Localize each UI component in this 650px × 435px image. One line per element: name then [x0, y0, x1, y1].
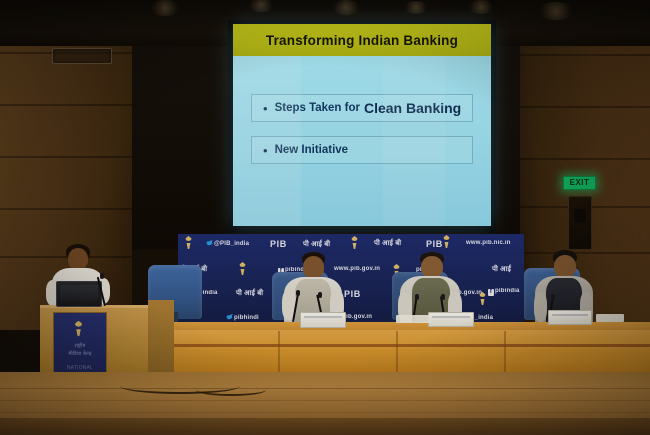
- lectern-sign-hindi-1: राष्ट्रीय: [54, 343, 106, 349]
- backdrop-text-label: pibindia: [495, 288, 520, 294]
- backdrop-text: PIB: [344, 289, 361, 299]
- backdrop-text-label: पी आई बी: [303, 241, 330, 248]
- slide-bullet-1: • Steps Taken for Clean Banking: [251, 94, 473, 122]
- india-emblem-icon: [238, 262, 247, 275]
- backdrop-text: pibhindi: [226, 314, 259, 321]
- backdrop-text-label: पी आई बी: [236, 290, 263, 297]
- exit-sign-label: EXIT: [570, 179, 590, 187]
- press-conference-photo: EXIT Transforming Indian Banking • Steps…: [0, 0, 650, 435]
- backdrop-text: पी आई: [492, 265, 511, 274]
- backdrop-text: पी आई बी: [303, 240, 330, 249]
- backdrop-text-label: पी आई बी: [374, 240, 401, 247]
- backdrop-text-label: PIB: [270, 239, 287, 249]
- backdrop-text: पी आई बी: [236, 289, 263, 298]
- nameplate-panelist-centre: [428, 312, 474, 327]
- exit-sign: EXIT: [563, 176, 596, 190]
- bullet-1-emphasis: Clean Banking: [364, 100, 461, 116]
- documents-right: [596, 314, 624, 322]
- slide-title-banner: Transforming Indian Banking: [233, 24, 491, 56]
- lectern-sign-hindi-2: मीडिया केन्द्र: [54, 351, 106, 357]
- air-vent-left: [52, 48, 112, 64]
- twitter-icon: [226, 314, 233, 320]
- slide-body: • Steps Taken for Clean Banking • New In…: [233, 56, 491, 226]
- bullet-marker-icon: •: [263, 102, 268, 115]
- slide-bullet-2: • New Initiative: [251, 136, 473, 164]
- documents-centre: [396, 315, 430, 323]
- panel-table-front: [122, 330, 650, 374]
- facebook-icon: f: [488, 289, 494, 296]
- backdrop-text: fpibindia: [488, 288, 520, 296]
- table-accent-stripe: [122, 344, 650, 347]
- nameplate-panelist-right: [548, 310, 592, 325]
- stage-front-edge: [0, 418, 650, 435]
- backdrop-text-label: www.pib.nic.in: [466, 240, 511, 246]
- backdrop-text-label: पी आई: [492, 266, 511, 273]
- slide-title: Transforming Indian Banking: [266, 33, 458, 48]
- lectern-sign-english-1: NATIONAL: [54, 365, 106, 371]
- bullet-2-text: New Initiative: [275, 144, 349, 156]
- floor-cable-2: [196, 384, 266, 396]
- backdrop-text: www.pib.nic.in: [466, 240, 511, 246]
- backdrop-text-label: pibhindi: [234, 315, 259, 321]
- india-emblem-icon: [184, 236, 193, 249]
- presentation-screen: Transforming Indian Banking • Steps Take…: [233, 24, 491, 226]
- laptop: [56, 281, 102, 307]
- backdrop-text-label: PIB: [426, 239, 443, 249]
- backdrop-text: PIB: [426, 239, 443, 249]
- bullet-1-text: Steps Taken for: [275, 102, 360, 114]
- wall-speaker: [568, 196, 592, 250]
- india-emblem-icon: [350, 236, 359, 249]
- twitter-icon: [206, 240, 213, 246]
- bullet-marker-icon: •: [263, 144, 268, 157]
- backdrop-text-label: PIB: [344, 289, 361, 299]
- nameplate-panelist-left: [300, 312, 346, 328]
- backdrop-text-label: @PIB_india: [214, 241, 249, 247]
- backdrop-text: पी आई बी: [374, 239, 401, 248]
- india-emblem-icon: [442, 235, 451, 248]
- backdrop-text: PIB: [270, 239, 287, 249]
- backdrop-text: @PIB_india: [206, 240, 249, 247]
